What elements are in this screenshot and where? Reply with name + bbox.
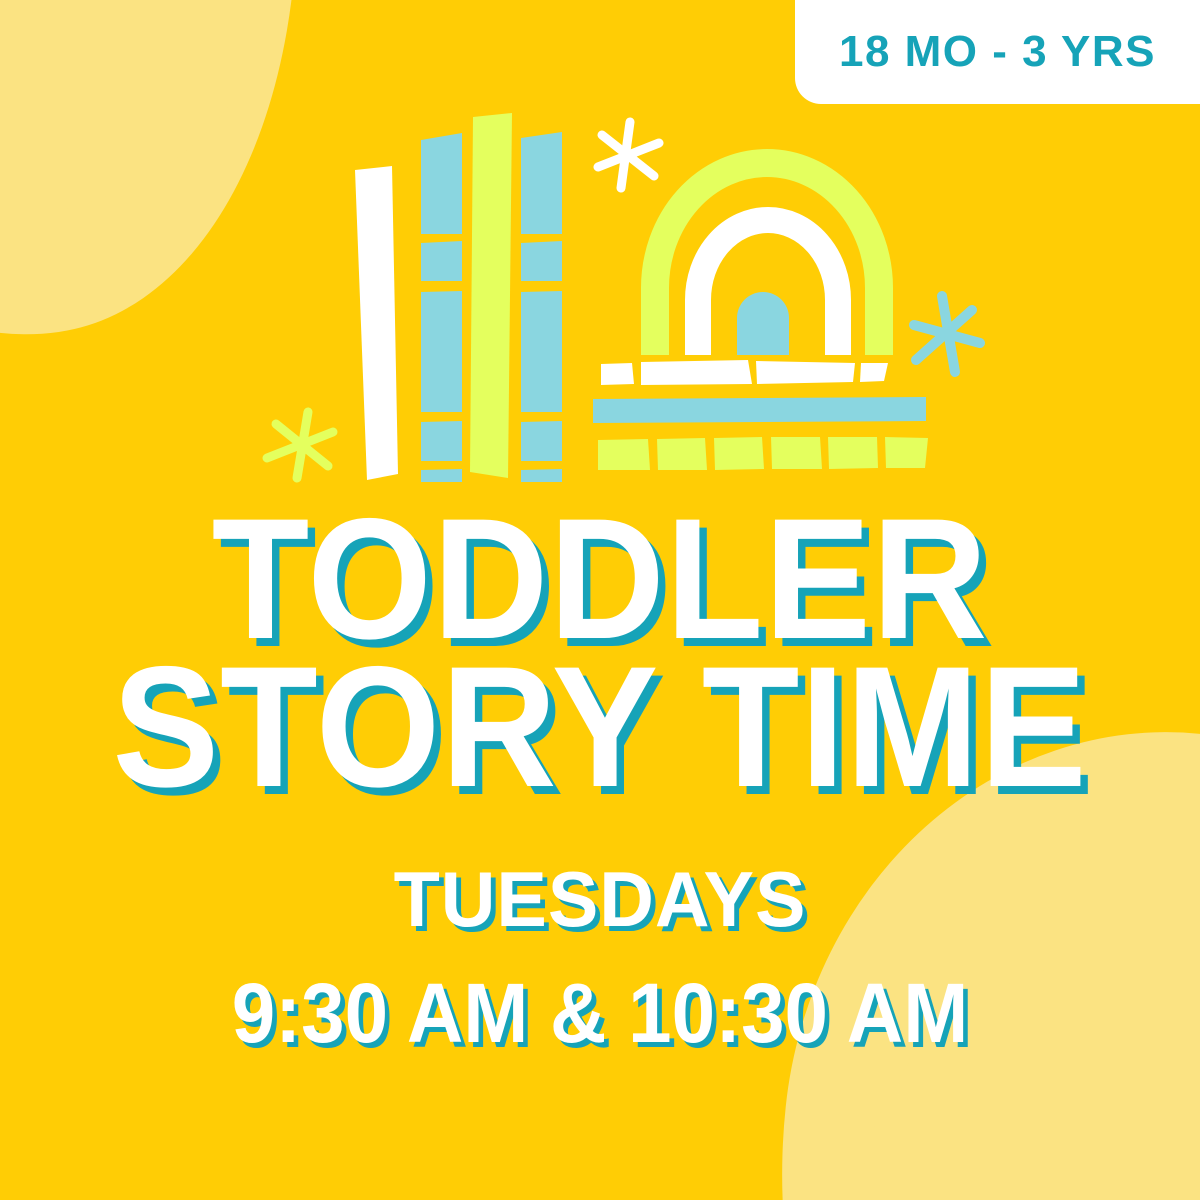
basket-top-dashes (601, 360, 888, 385)
book-spine-blue-left (421, 133, 462, 482)
headline-block: TODDLER STORY TIME TUESDAYS 9:30 AM & 10… (0, 500, 1200, 1062)
book-spine-white (355, 166, 398, 480)
rainbow-inner-shape (737, 292, 789, 355)
schedule-day: TUESDAYS (18, 854, 1182, 945)
age-range-badge: 18 MO - 3 YRS (795, 0, 1200, 104)
basket-bottom-dashes (598, 437, 928, 470)
sparkle-blue-icon (914, 296, 980, 372)
poster-canvas: 18 MO - 3 YRS (0, 0, 1200, 1200)
sparkle-white-icon (598, 122, 659, 188)
sparkle-lime-icon (267, 412, 333, 478)
schedule-times: 9:30 AM & 10:30 AM (42, 965, 1158, 1062)
book-spine-blue-right (521, 132, 562, 482)
basket-middle-bar (593, 397, 926, 423)
book-spine-lime (470, 113, 512, 478)
age-range-label: 18 MO - 3 YRS (839, 27, 1156, 77)
title-line-2: STORY TIME (42, 648, 1158, 806)
